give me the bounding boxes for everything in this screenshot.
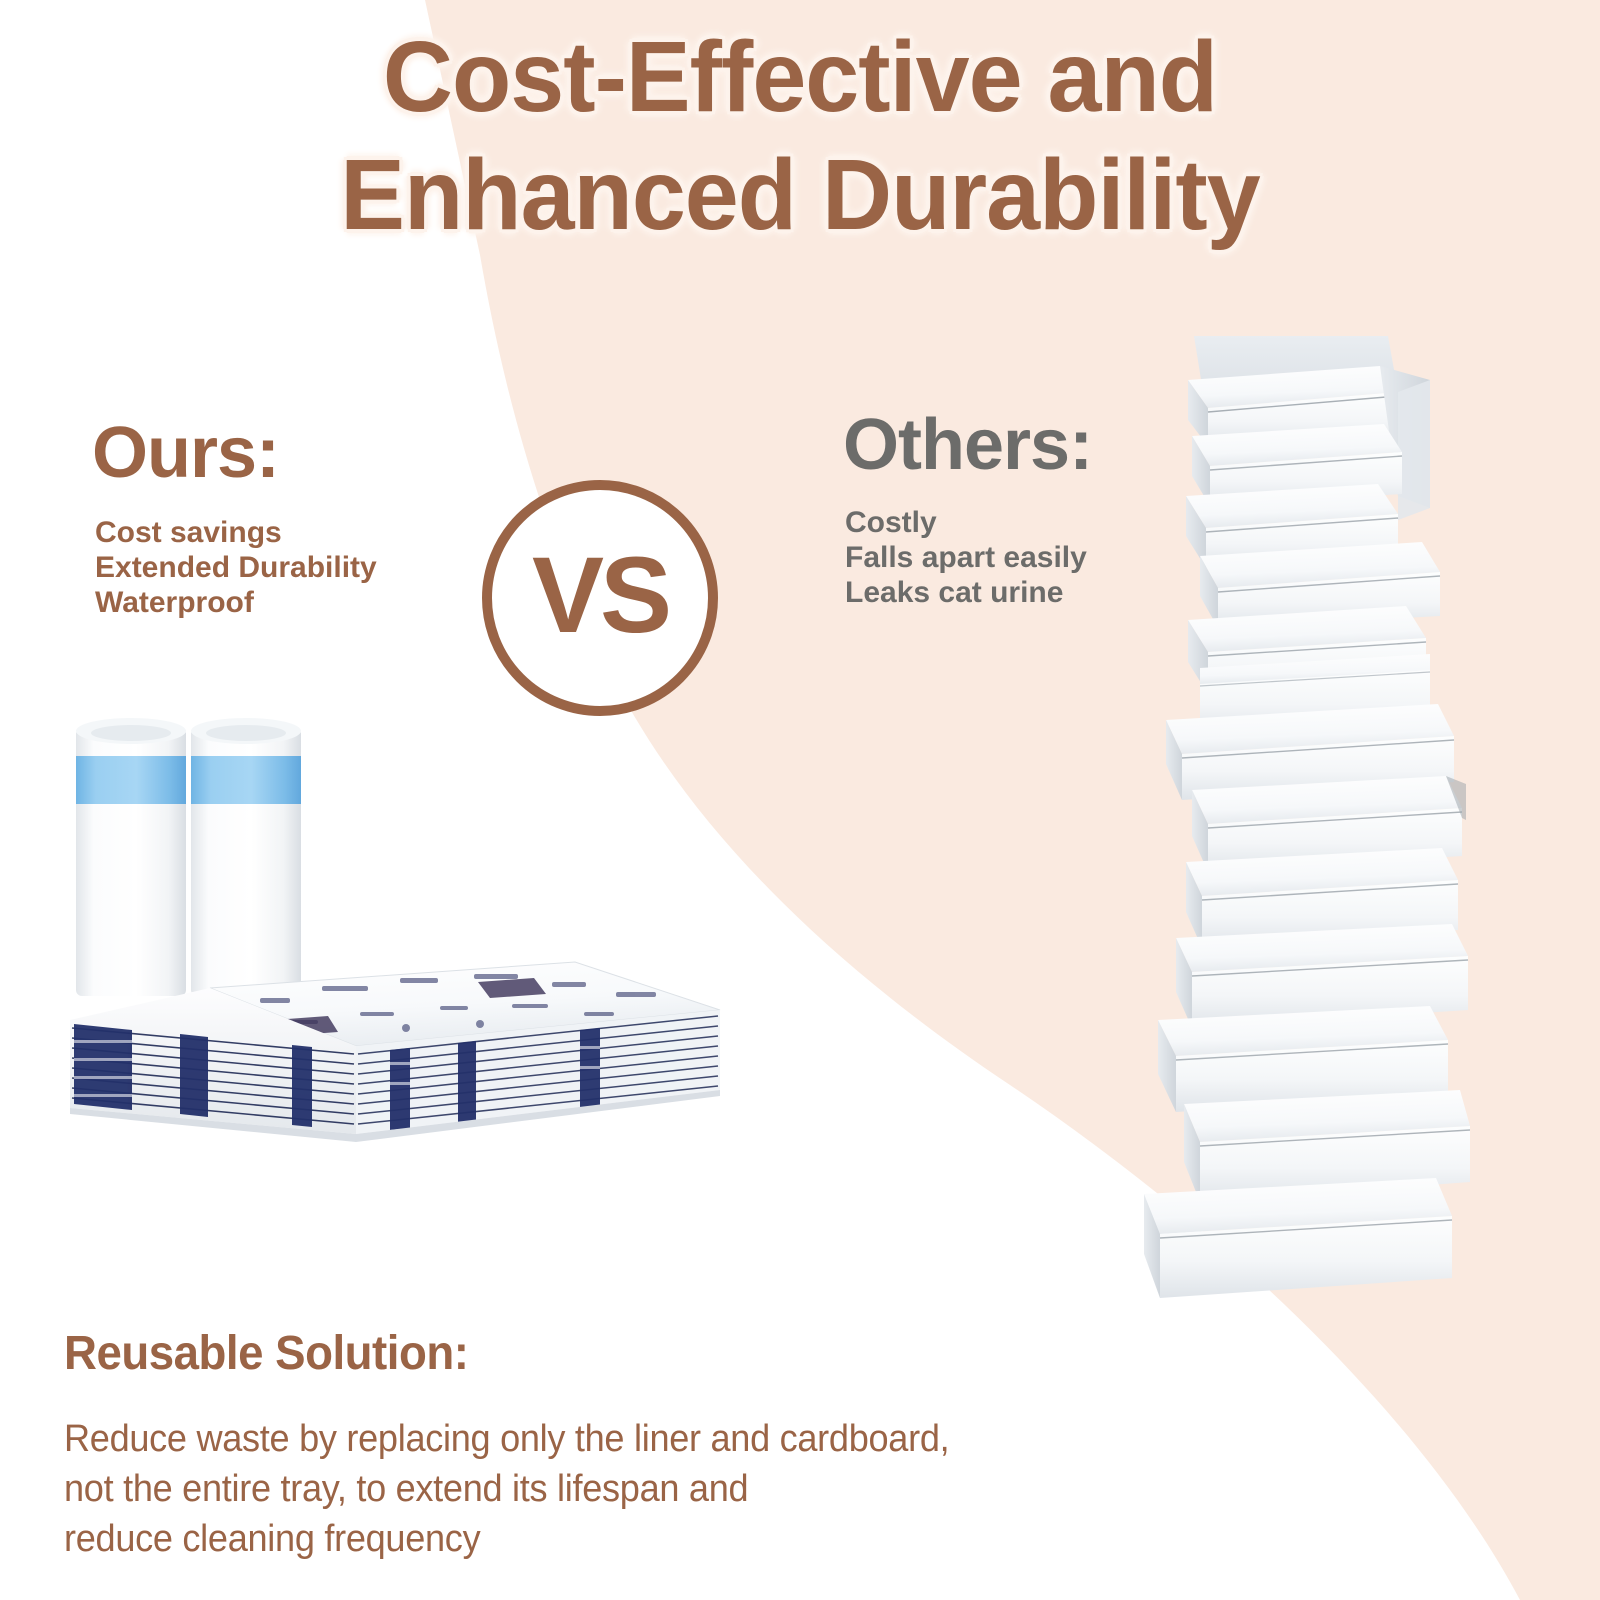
- reusable-solution-line: not the entire tray, to extend its lifes…: [64, 1464, 949, 1514]
- reusable-solution-line: reduce cleaning frequency: [64, 1514, 949, 1564]
- others-drawback-item: Falls apart easily: [845, 540, 1087, 575]
- ours-benefit-item: Waterproof: [95, 585, 377, 620]
- others-heading: Others:: [843, 408, 1092, 482]
- reusable-solution-description: Reduce waste by replacing only the liner…: [64, 1414, 949, 1564]
- infographic-page: Cost-Effective and Enhanced Durability O…: [0, 0, 1600, 1600]
- liner-rolls-and-cardboard-pads-photo: [60, 690, 760, 1210]
- others-drawback-item: Leaks cat urine: [845, 575, 1087, 610]
- box-item: [1144, 1178, 1452, 1298]
- ours-heading: Ours:: [92, 416, 279, 490]
- ours-benefit-item: Cost savings: [95, 515, 377, 550]
- tall-stack-of-white-boxes-photo: [1130, 320, 1470, 1330]
- others-drawback-item: Costly: [845, 505, 1087, 540]
- liner-roll-left: [76, 718, 186, 996]
- liner-roll-right: [191, 718, 301, 996]
- ours-benefit-list: Cost savings Extended Durability Waterpr…: [95, 515, 377, 620]
- versus-label: VS: [532, 541, 668, 649]
- others-drawback-list: Costly Falls apart easily Leaks cat urin…: [845, 505, 1087, 610]
- reusable-solution-heading: Reusable Solution:: [64, 1326, 468, 1382]
- reusable-solution-line: Reduce waste by replacing only the liner…: [64, 1414, 949, 1464]
- ours-benefit-item: Extended Durability: [95, 550, 377, 585]
- versus-badge: VS: [482, 480, 718, 716]
